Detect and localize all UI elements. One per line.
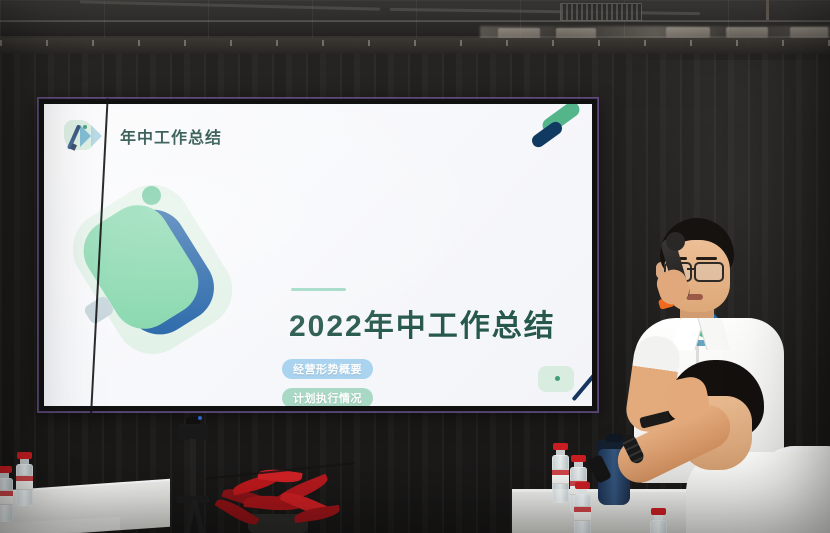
eyeglasses-lens-right (694, 262, 724, 282)
bottle-body (16, 464, 33, 506)
title-accent-line (291, 288, 346, 291)
presentation-slide: 年中工作总结 2022年中工作总结 (44, 104, 592, 406)
bottle-cap (571, 455, 586, 462)
slide-header-title: 年中工作总结 (120, 124, 222, 148)
conference-room-photo: 年中工作总结 2022年中工作总结 (0, 0, 830, 533)
bottle-body (0, 478, 13, 522)
bottle-label-accent (574, 507, 591, 512)
bottle-cap (553, 443, 568, 450)
agenda-item-1: 经营形势概要 (282, 359, 373, 379)
bottle-cap (575, 482, 590, 489)
bottle-label-accent (16, 476, 33, 481)
water-bottle (574, 482, 591, 533)
bottle-label-accent (0, 491, 13, 496)
agenda-list: 经营形势概要 计划执行情况 主要工作举措及亮点工作 存在问题及今后工作改进建议 (282, 359, 454, 406)
bottle-body (552, 455, 569, 503)
bromeliad-plant (214, 470, 344, 533)
camera-indicator (198, 416, 202, 420)
chevron-icon (91, 125, 102, 147)
ceiling-light (726, 27, 768, 38)
ceiling-pipe (766, 0, 769, 20)
ceiling-rail (0, 20, 830, 22)
water-bottle (0, 466, 13, 522)
ceiling-light (666, 27, 710, 38)
ceiling (0, 0, 830, 42)
presenter-eyebrow (696, 257, 717, 260)
agenda-item-2: 计划执行情况 (282, 388, 373, 406)
bottle-cap (0, 466, 12, 473)
bottle-cap (17, 452, 32, 459)
illustration-dot (142, 186, 161, 205)
camera-body (178, 424, 208, 440)
slide-main-title: 2022年中工作总结 (289, 301, 556, 345)
decoration-top-right (522, 104, 592, 162)
chevron-icon (80, 125, 91, 147)
water-bottle (16, 452, 33, 506)
tumbler-knob (606, 434, 622, 442)
projection-screen: 年中工作总结 2022年中工作总结 (39, 99, 597, 411)
bottle-body (574, 494, 591, 533)
decoration-dot (555, 376, 560, 381)
air-vent (560, 3, 642, 21)
tripod-column (190, 439, 196, 501)
ceiling-light (790, 27, 828, 38)
decoration-slash (572, 373, 592, 402)
water-bottle (552, 443, 569, 503)
bottle-label-accent (552, 470, 569, 475)
eyeglasses-bridge (687, 268, 695, 270)
slide-illustration (80, 182, 260, 357)
decoration-bottom-right (522, 348, 592, 406)
slide-header: 年中工作总结 (64, 118, 222, 154)
seated-attendee (638, 360, 830, 533)
curtain-hooks (0, 40, 830, 46)
